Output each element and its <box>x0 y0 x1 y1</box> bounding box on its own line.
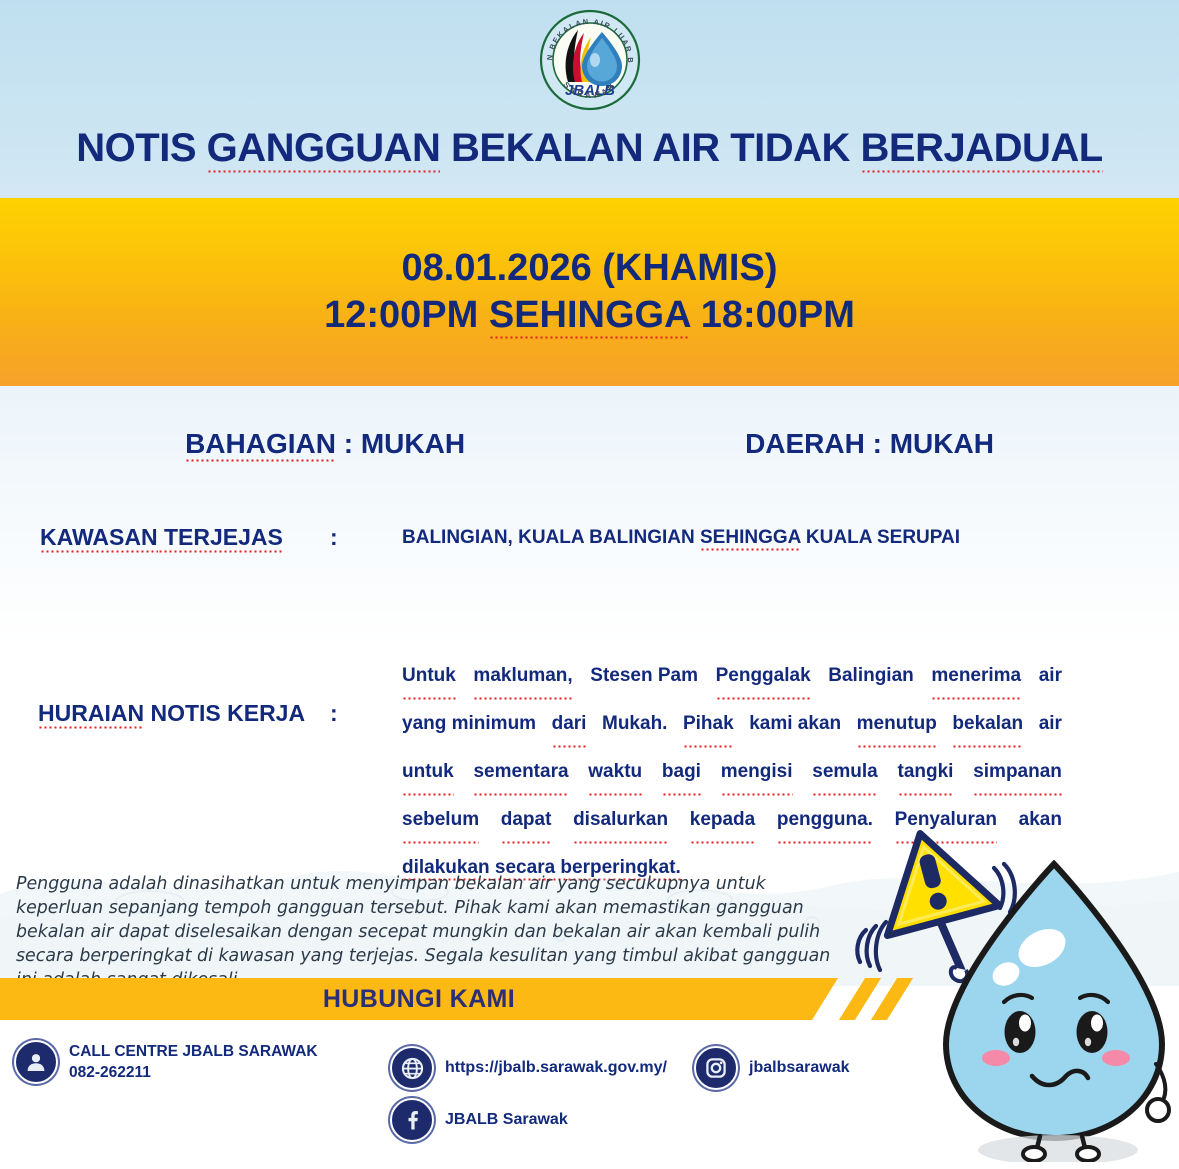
time-end: 18:00PM <box>690 294 855 336</box>
contact-instagram[interactable]: jbalbsarawak <box>694 1046 850 1090</box>
wn4-sebelum: sebelum <box>402 798 479 846</box>
affected-area-colon: : <box>330 524 338 551</box>
droplet-body <box>946 864 1162 1138</box>
time-sehingga-word: SEHINGGA <box>489 294 690 341</box>
wn1-air: air <box>1039 654 1062 702</box>
person-icon <box>14 1040 58 1084</box>
affected-area-label-part1: KAWASAN <box>40 524 158 555</box>
title-word-bekalan-air-tidak: BEKALAN AIR TIDAK <box>451 126 850 170</box>
page-title: NOTIS GANGGUAN BEKALAN AIR TIDAK BERJADU… <box>0 126 1179 171</box>
instagram-icon <box>694 1046 738 1090</box>
wn3-waktu: waktu <box>588 750 642 798</box>
wn2-menutup: menutup <box>857 702 937 750</box>
instagram-handle: jbalbsarawak <box>749 1059 850 1077</box>
affected-area-label: KAWASAN TERJEJAS <box>40 524 283 551</box>
affected-area-value-part2: KUALA SERUPAI <box>801 527 960 548</box>
affected-area-label-part2: TERJEJAS <box>158 524 283 555</box>
wn1-untuk: Untuk <box>402 654 456 702</box>
wn3-tangki: tangki <box>898 750 954 798</box>
wn2-kami-akan: kami akan <box>749 702 841 750</box>
work-notice-line-3: untuk sementara waktu bagi mengisi semul… <box>402 750 1062 798</box>
title-word-notis: NOTIS <box>76 126 196 170</box>
banner-slash-2 <box>871 978 913 1020</box>
work-notice-line-1: Untuk makluman, Stesen Pam Penggalak Bal… <box>402 654 1062 702</box>
date-time-banner: 08.01.2026 (KHAMIS) 12:00PM SEHINGGA 18:… <box>0 198 1179 386</box>
wn3-sementara: sementara <box>473 750 568 798</box>
wn1-stesen-pam: Stesen Pam <box>590 654 698 702</box>
wn2-bekalan: bekalan <box>952 702 1023 750</box>
contact-banner: HUBUNGI KAMI <box>0 978 900 1020</box>
wn3-simpanan: simpanan <box>973 750 1062 798</box>
wn4-dapat: dapat <box>501 798 552 846</box>
jbalb-logo: JBALB JABATAN BEKALAN AIR LUAR BANDAR SA… <box>538 8 642 112</box>
website-url: https://jbalb.sarawak.gov.my/ <box>445 1059 667 1077</box>
bahagian-separator: : <box>336 428 361 459</box>
contact-call-centre[interactable]: CALL CENTRE JBALB SARAWAK 082-262211 <box>14 1040 318 1084</box>
affected-area-row: KAWASAN TERJEJAS : BALINGIAN, KUALA BALI… <box>0 524 1179 564</box>
wn4-penyaluran: Penyaluran <box>895 798 997 846</box>
work-notice-label-part2: NOTIS KERJA <box>144 700 305 726</box>
wn3-untuk: untuk <box>402 750 454 798</box>
wn1-menerima: menerima <box>931 654 1021 702</box>
daerah-field: DAERAH : MUKAH <box>745 428 994 460</box>
call-centre-number: 082-262211 <box>69 1062 318 1083</box>
advisory-paragraph: Pengguna adalah dinasihatkan untuk menyi… <box>16 872 836 992</box>
wn3-bagi: bagi <box>662 750 701 798</box>
wn4-akan: akan <box>1019 798 1062 846</box>
notice-time-range: 12:00PM SEHINGGA 18:00PM <box>324 294 855 337</box>
contact-call-text: CALL CENTRE JBALB SARAWAK 082-262211 <box>69 1041 318 1083</box>
contact-facebook[interactable]: JBALB Sarawak <box>390 1098 568 1142</box>
affected-area-value-part1: BALINGIAN, KUALA BALINGIAN <box>402 527 700 548</box>
work-notice-colon: : <box>330 700 338 727</box>
wn1-balingian: Balingian <box>828 654 914 702</box>
bahagian-value: MUKAH <box>361 428 465 459</box>
notice-poster: JBALB JABATAN BEKALAN AIR LUAR BANDAR SA… <box>0 0 1179 1169</box>
wn2-dari: dari <box>552 702 587 750</box>
wn2-yang-minimum: yang minimum <box>402 702 536 750</box>
bahagian-label: BAHAGIAN <box>185 428 336 464</box>
division-district-row: BAHAGIAN : MUKAH DAERAH : MUKAH <box>0 428 1179 460</box>
bahagian-field: BAHAGIAN : MUKAH <box>185 428 465 460</box>
affected-area-value-sehingga: SEHINGGA <box>700 527 801 553</box>
work-notice-line-2: yang minimum dari Mukah. Pihak kami akan… <box>402 702 1062 750</box>
call-centre-name: CALL CENTRE JBALB SARAWAK <box>69 1041 318 1062</box>
wn4-pengguna: pengguna. <box>777 798 873 846</box>
contact-website[interactable]: https://jbalb.sarawak.gov.my/ <box>390 1046 667 1090</box>
affected-area-value: BALINGIAN, KUALA BALINGIAN SEHINGGA KUAL… <box>402 527 960 549</box>
wn2-pihak: Pihak <box>683 702 734 750</box>
title-word-berjadual: BERJADUAL <box>861 126 1103 175</box>
wn3-mengisi: mengisi <box>721 750 793 798</box>
work-notice-label-part1: HURAIAN <box>38 700 144 731</box>
wn2-mukah: Mukah. <box>602 702 667 750</box>
wn4-kepada: kepada <box>690 798 755 846</box>
contact-banner-label: HUBUNGI KAMI <box>0 978 838 1020</box>
facebook-icon <box>390 1098 434 1142</box>
facebook-page: JBALB Sarawak <box>445 1111 568 1129</box>
wn3-semula: semula <box>812 750 877 798</box>
wn1-penggalak: Penggalak <box>716 654 811 702</box>
work-notice-body: Untuk makluman, Stesen Pam Penggalak Bal… <box>402 654 1062 889</box>
wn1-makluman: makluman, <box>473 654 572 702</box>
globe-icon <box>390 1046 434 1090</box>
work-notice-line-4: sebelum dapat disalurkan kepada pengguna… <box>402 798 1062 846</box>
title-word-gangguan: GANGGUAN <box>207 126 441 175</box>
wn2-air: air <box>1039 702 1062 750</box>
notice-date: 08.01.2026 (KHAMIS) <box>402 247 778 290</box>
work-notice-label: HURAIAN NOTIS KERJA <box>38 700 305 727</box>
time-start: 12:00PM <box>324 294 489 336</box>
wn4-disalurkan: disalurkan <box>573 798 668 846</box>
